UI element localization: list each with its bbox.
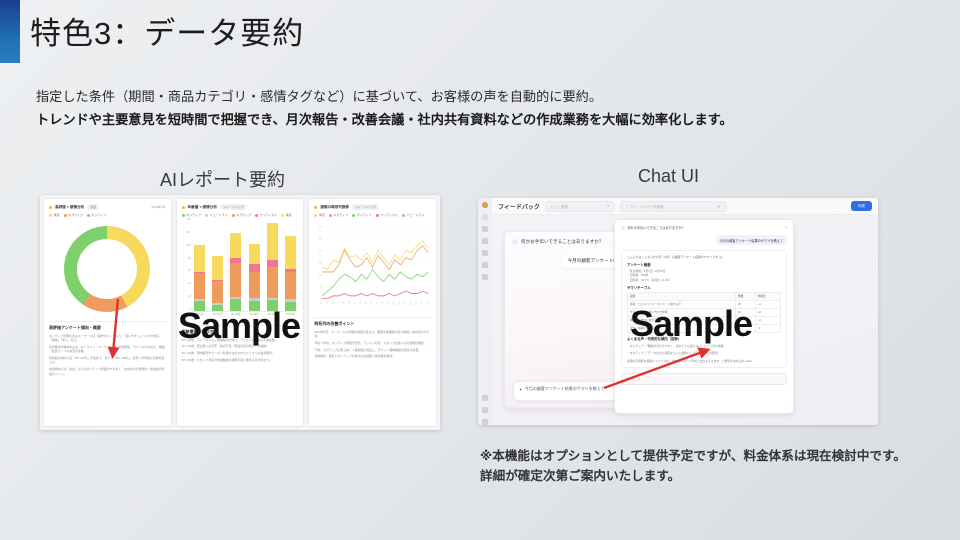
assistant-message: 何かお手伝いできることはありますか？: [621, 225, 787, 230]
bar-segment: [194, 273, 205, 299]
bar: [285, 236, 296, 311]
table-cell: -2: [755, 324, 780, 332]
table-cell: +4: [755, 300, 780, 308]
bar-segment: [194, 245, 205, 272]
chat-icon[interactable]: [482, 214, 488, 220]
panel1-legend: 満足 ネガティブ ポジティブ: [49, 213, 166, 217]
panel2-bullet: 50〜59歳：スタッフ対応や会場動線の説明不足に関する声が目立つ。: [182, 358, 299, 362]
search-icon: ⌕: [626, 204, 628, 208]
report-panel-sentiment-share: 高評価 × 感情分析 割合 2024年6月 満足 ネガティブ ポジティブ 高評価…: [43, 198, 172, 427]
chevron-down-icon: ▾: [607, 204, 609, 208]
panel3-legend: 満足 ネガティブ ポジティブ クリティカル ニュートラル: [314, 213, 431, 217]
panel3-section-title: 時系列の改善ポイント: [314, 321, 431, 327]
caption-chat-ui: Chat UI: [638, 166, 699, 187]
view-select-value: ビュー選択: [551, 204, 568, 209]
panel3-bullet: 下旬：ネガティブ比率上昇。人員配置の見直し、チケット発券動線の改善が必要。: [314, 348, 431, 352]
more-options-icon[interactable]: ⋮: [835, 204, 839, 209]
line-series: [323, 270, 429, 296]
panel3-pill: フィードバック: [352, 204, 379, 210]
donut-chart: [49, 221, 166, 317]
composer-value: 今月の顧客アンケート結果のサマリを教えて: [525, 386, 605, 392]
table-header-cell: 件数: [735, 292, 755, 300]
footnote-line-2: 詳細が確定次第ご案内いたします。: [480, 466, 906, 486]
y-tick: 140: [186, 218, 190, 221]
x-tick: 6/14: [393, 300, 397, 306]
analytics-icon[interactable]: [482, 262, 488, 268]
y-tick: 10: [319, 274, 321, 276]
legend-item: クリティカル: [255, 213, 277, 217]
panel3-summary: 時系列の改善ポイント 2024年6月：クリティカル評価の増加が目立つ。要因は混雑…: [314, 317, 431, 359]
panel3-title: 感情の時系列推移: [320, 205, 349, 210]
chat-topbar: フィードバック ビュー選択 ▾ ⌕ フィードバックを検索 ▼ ⋮ – 作成: [492, 198, 878, 215]
doc-note: ・ネガティブ：「データ出力の項目をもっと柔軟にしてほしい」との要望。: [627, 351, 781, 355]
panel1-meta: 2024年6月: [151, 205, 165, 209]
y-tick: 120: [186, 231, 190, 234]
x-tick: 6/12: [381, 300, 385, 306]
bar-segment: [285, 272, 296, 299]
search-input[interactable]: ⌕ フィードバックを検索 ▼: [620, 201, 727, 212]
panel2-header: 年齢層 × 感情分析 フィードバック: [182, 204, 299, 210]
assistant-avatar-icon: [512, 239, 518, 245]
attach-icon[interactable]: ✦: [519, 387, 522, 392]
panel1-bullet: 年齢層の傾向では「30〜40代」が最多で、次いで「20〜29代」。初月〜半年層が…: [49, 356, 166, 365]
panel1-title: 高評価 × 感情分析: [55, 205, 84, 210]
panel1-header: 高評価 × 感情分析 割合 2024年6月: [49, 204, 166, 210]
bar: [267, 223, 278, 311]
panel3-bullet: 月初〜中旬：ポジティブ評価が安定。アシスト対応・スタッフ接遇への高評価が継続。: [314, 341, 431, 345]
x-tick: 6/3: [332, 300, 335, 305]
bar-segment: [249, 244, 260, 265]
x-tick: 6/11: [376, 300, 380, 306]
caption-ai-report: AIレポート要約: [160, 166, 285, 192]
avatar-icon[interactable]: [482, 419, 488, 425]
x-tick: 6/16: [404, 300, 408, 306]
user-message: 今月の顧客アンケート結果のサマリを教えて: [716, 235, 787, 245]
table-cell: +3: [755, 316, 780, 324]
y-tick: 30: [319, 226, 321, 228]
y-tick: 5: [320, 286, 322, 288]
bar-segment: [212, 256, 223, 280]
panel1-section-title: 高評価アンケート傾向・概要: [49, 325, 166, 331]
x-tick: 6/17: [409, 300, 413, 306]
bar-segment: [249, 272, 260, 298]
page-title: 特色3：データ要約: [30, 8, 304, 53]
x-tick: 6/15: [398, 300, 402, 306]
x-tick: 6/18: [415, 300, 419, 306]
x-tick: 6/2: [326, 300, 329, 305]
x-tick: 6/6: [348, 300, 351, 305]
bar-segment: [212, 281, 223, 303]
y-tick: 20: [188, 295, 191, 298]
x-tick: 6/7: [354, 300, 357, 305]
bar: [212, 256, 223, 311]
table-header-row: 項目 件数 前月比: [628, 292, 781, 300]
panel1-bullet: 高評価の内容的中心は、オンライン・マーケット購入の利便性、モバイルUIの良さ、価…: [49, 345, 166, 354]
panel1-summary: 高評価アンケート傾向・概要 ポジティブ評価の主なキーワードは「操作のシンプルさ」…: [49, 321, 166, 376]
y-tick: 25: [319, 238, 321, 240]
board-icon[interactable]: [482, 226, 488, 232]
x-tick: 6/13: [387, 300, 391, 306]
line-series: [323, 291, 429, 298]
x-tick: 6/4: [337, 300, 340, 305]
panel2-bullet: 40〜49歳：限内販売やクーポン利用方法のわかりにくさへの改善要望。: [182, 351, 299, 355]
app-logo-icon: [482, 202, 488, 208]
assistant-avatar-icon: [621, 226, 625, 230]
lead-line-1: 指定した条件（期間・商品カテゴリ・感情タグなど）に基づいて、お客様の声を自動的に…: [36, 86, 926, 109]
title-accent-bar: [0, 0, 20, 63]
assistant-message-text: 何かお手伝いできることはありますか？: [521, 239, 603, 245]
x-tick: 6/10: [370, 300, 374, 306]
bar-segment: [267, 267, 278, 298]
footnote-line-1: ※本機能はオプションとして提供予定ですが、料金体系は現在検討中です。: [480, 446, 906, 466]
panel1-bullet: 性別傾向では「女性」からのポジティブ評価がやや多く、女性向けの利便性・快適性が評…: [49, 367, 166, 376]
lead-line-2: トレンドや主要意見を短時間で把握でき、月次報告・改善会議・社内共有資料などの作成…: [36, 109, 926, 132]
x-tick: 6/20: [426, 300, 430, 306]
create-button[interactable]: 作成: [851, 201, 872, 211]
y-tick: 100: [186, 244, 190, 247]
bar-segment: [249, 264, 260, 272]
x-tick: 6/1: [320, 300, 323, 305]
legend-item: ネガティブ: [329, 213, 348, 217]
bar-segment: [230, 263, 241, 296]
panel1-pill: 割合: [87, 204, 99, 210]
bar: [230, 233, 241, 311]
app-sidebar-rail[interactable]: [478, 198, 492, 425]
footnote: ※本機能はオプションとして提供予定ですが、料金体系は現在検討中です。 詳細が確定…: [480, 446, 906, 486]
doc-input-placeholder: 質問を入力: [626, 377, 640, 381]
bell-icon[interactable]: [482, 407, 488, 413]
legend-item: ポジティブ: [182, 213, 201, 217]
funnel-icon[interactable]: ▼: [717, 204, 721, 209]
doc-heading-table: サマリテーブル: [627, 285, 781, 290]
legend-item: 満足: [49, 213, 60, 217]
sample-watermark-left: Sample: [178, 305, 300, 347]
y-tick: 20: [319, 250, 321, 252]
insight-icon[interactable]: [482, 238, 488, 244]
legend-item: 満足: [314, 213, 325, 217]
table-cell: +8: [755, 308, 780, 316]
bar-segment: [230, 233, 241, 259]
doc-closing: 詳細の元資料を個別にファイル化、またはレポート形式で出力もできます。ご希望があれ…: [627, 359, 781, 363]
doc-intro: こんにちは！こちらが今月（6月）の顧客アンケート結果のサマリです 📊: [627, 255, 781, 259]
search-placeholder: フィードバックを検索: [630, 204, 664, 209]
panel1-bullet: ポジティブ評価の主なキーワードは「操作のシンプルさ」「使いやすい」「スマホ対応」…: [49, 334, 166, 343]
bar: [249, 244, 260, 311]
doc-heading-overview: アンケート概要: [627, 262, 781, 267]
y-tick: 0: [320, 298, 322, 300]
y-tick: 15: [319, 262, 321, 264]
line-series: [323, 246, 429, 272]
legend-item: 満足: [281, 213, 292, 217]
settings-icon[interactable]: [482, 274, 488, 280]
bar-segment: [267, 223, 278, 260]
assistant-message-text: 何かお手伝いできることはありますか？: [628, 225, 685, 230]
x-tick: 6/19: [420, 300, 424, 306]
bullet-icon: [182, 206, 185, 209]
doc-overview-item: ・回答率：43.7%（先月比 +6.3%）: [627, 278, 781, 282]
report-panel-timeseries: 感情の時系列推移 フィードバック 満足 ネガティブ ポジティブ クリティカル ニ…: [308, 198, 437, 427]
legend-item: ネガティブ: [64, 213, 83, 217]
x-tick: 6/8: [360, 300, 363, 305]
panel3-bullet: 全体傾向：満足とポジティブの合計は全期間で過半数を維持。: [314, 354, 431, 358]
bullet-icon: [49, 206, 52, 209]
legend-item: ポジティブ: [352, 213, 371, 217]
bar: [194, 245, 205, 311]
bar-segment: [285, 236, 296, 268]
legend-item: ニュートラル: [205, 213, 228, 217]
panel3-header: 感情の時系列推移 フィードバック: [314, 204, 431, 210]
bar-segment: [267, 260, 278, 267]
idea-icon[interactable]: [482, 250, 488, 256]
doc-input[interactable]: 質問を入力: [621, 373, 787, 385]
bullet-icon: [314, 206, 317, 209]
minimize-icon[interactable]: –: [844, 204, 846, 209]
panel2-pill: フィードバック: [220, 204, 247, 210]
table-header-cell: 項目: [628, 292, 736, 300]
docs-icon[interactable]: [482, 395, 488, 401]
x-tick: 6/9: [365, 300, 368, 305]
bar-chart-y-axis: 020406080100120140: [182, 221, 192, 311]
y-tick: 80: [188, 257, 191, 260]
bar-chart-plot: [192, 221, 299, 312]
table-header-cell: 前月比: [755, 292, 780, 300]
line-chart: 0510152025306/16/26/36/46/56/66/76/86/96…: [314, 221, 431, 313]
panel2-legend: ポジティブ ニュートラル ネガティブ クリティカル 満足: [182, 213, 299, 217]
edit-icon[interactable]: ✎: [785, 225, 788, 230]
panel3-bullet: 2024年6月：クリティカル評価の増加が目立つ。要因は混雑時の待ち時間と案内表示…: [314, 330, 431, 339]
x-tick: 6/5: [343, 300, 346, 305]
legend-item: ネガティブ: [232, 213, 251, 217]
panel2-title: 年齢層 × 感情分析: [188, 205, 217, 210]
legend-item: クリティカル: [376, 213, 398, 217]
y-tick: 60: [188, 269, 191, 272]
legend-item: ポジティブ: [87, 213, 106, 217]
sample-watermark-right: Sample: [630, 303, 752, 345]
workspace-title: フィードバック: [498, 202, 540, 211]
lead-copy: 指定した条件（期間・商品カテゴリ・感情タグなど）に基づいて、お客様の声を自動的に…: [36, 86, 926, 131]
legend-item: ニュートラル: [402, 213, 425, 217]
y-tick: 40: [188, 282, 191, 285]
view-select[interactable]: ビュー選択 ▾: [545, 201, 615, 212]
